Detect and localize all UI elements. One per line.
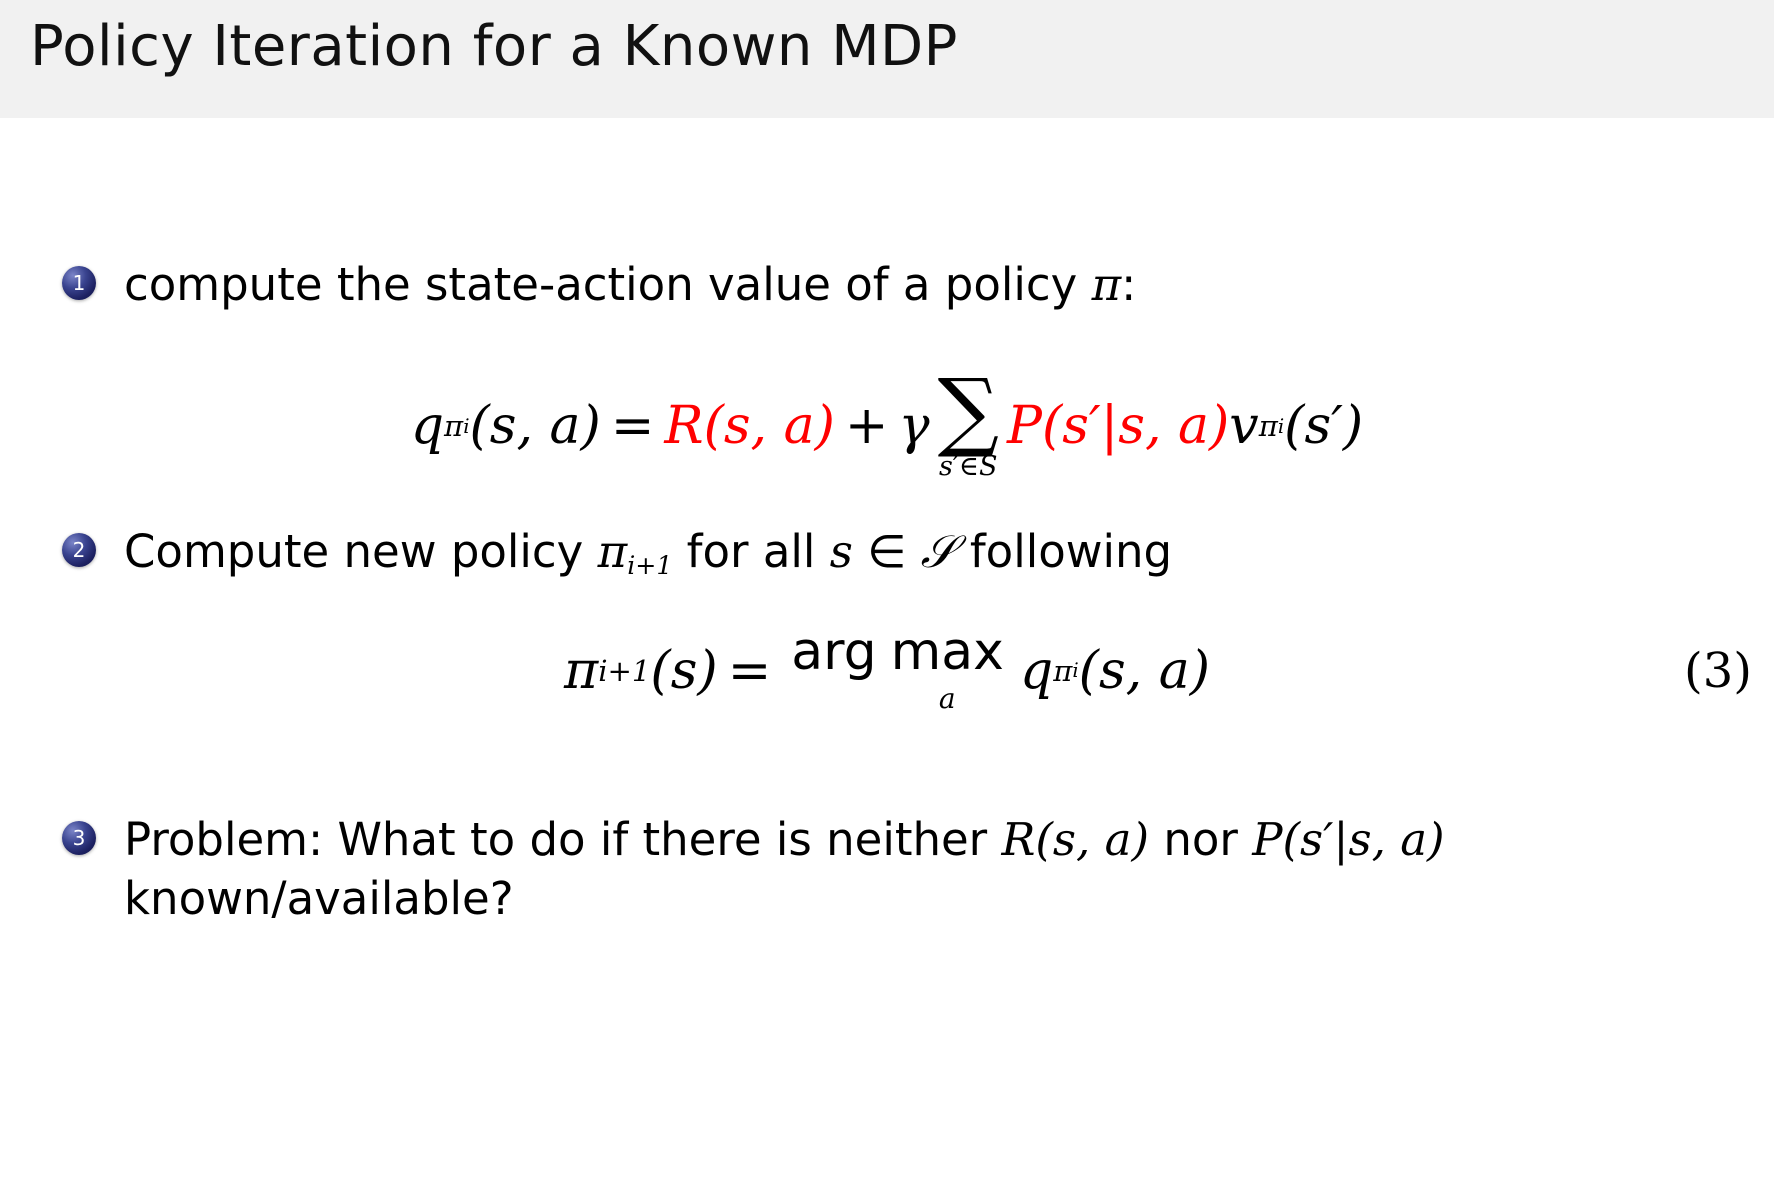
slide-title-bar: Policy Iteration for a Known MDP	[0, 0, 1774, 118]
list-item-2-text: Compute new policy πi+1 for all s ∈ 𝒮 fo…	[124, 523, 1172, 583]
eq2-equals-sign: =	[728, 641, 772, 701]
eq2-max-with-limit: max a	[891, 626, 1004, 715]
item3-line1-a: Problem: What to do if there is neither	[124, 813, 1001, 866]
equation-q-row: qπi(s, a) = R(s, a) + γ ∑ s′∈S P(s′|s, a…	[0, 373, 1774, 480]
bullet-number-icon-1: 1	[62, 266, 96, 300]
eq2-q-subscript-pi: π	[1053, 654, 1072, 688]
eq2-q-arguments: (s, a)	[1079, 641, 1210, 701]
item3-line1-b: nor	[1149, 813, 1252, 866]
eq1-q-arguments: (s, a)	[470, 396, 601, 456]
item2-part3: following	[956, 525, 1173, 578]
eq2-max-variable: a	[939, 682, 956, 715]
item2-part2: for all	[672, 525, 829, 578]
eq2-pi-subscript: i+1	[598, 654, 650, 688]
eq1-gamma: γ	[898, 396, 929, 456]
eq1-reward-term: R(s, a)	[664, 396, 834, 456]
item3-line2: known/available?	[124, 872, 514, 925]
slide-content: 1 compute the state-action value of a po…	[0, 118, 1774, 1186]
item2-pi-subscript: i+1	[627, 551, 672, 580]
list-item-3-text: Problem: What to do if there is neither …	[124, 811, 1445, 928]
item3-reward-symbol: R(s, a)	[1001, 813, 1149, 866]
eq1-transition-term: P(s′|s, a)	[1007, 396, 1229, 456]
eq2-arg-label: arg	[791, 626, 876, 678]
bullet-number-icon-3: 3	[62, 821, 96, 855]
equation-q: qπi(s, a) = R(s, a) + γ ∑ s′∈S P(s′|s, a…	[411, 373, 1363, 480]
bullet-number-icon-2: 2	[62, 533, 96, 567]
equation-policy-row: πi+1(s) = arg max a qπi(s, a) (3)	[0, 626, 1774, 715]
equation-policy-improvement: πi+1(s) = arg max a qπi(s, a)	[564, 626, 1210, 715]
item3-transition-symbol: P(s′|s, a)	[1252, 813, 1444, 866]
eq1-summation: ∑ s′∈S	[938, 375, 999, 482]
eq2-argmax-operator: arg max a	[791, 626, 1004, 715]
item2-element-of-icon: ∈	[867, 525, 906, 578]
sigma-icon: ∑	[938, 375, 999, 449]
item2-part1: Compute new policy	[124, 525, 598, 578]
page-title: Policy Iteration for a Known MDP	[30, 14, 958, 79]
eq1-value-arguments: (s′)	[1284, 396, 1363, 456]
item2-s: s	[830, 525, 853, 578]
eq2-pi: π	[564, 641, 598, 701]
item1-text-before: compute the state-action value of a poli…	[124, 258, 1092, 311]
eq1-q: q	[411, 396, 444, 456]
eq1-plus-sign: +	[845, 396, 889, 456]
list-item-1: 1 compute the state-action value of a po…	[62, 256, 1136, 315]
list-item-1-text: compute the state-action value of a poli…	[124, 256, 1136, 315]
eq2-max-label: max	[891, 626, 1004, 678]
eq1-equals-sign: =	[611, 396, 655, 456]
eq2-arguments: (s)	[650, 641, 717, 701]
equation-number: (3)	[1684, 643, 1752, 699]
eq1-value-subscript-pi: π	[1259, 409, 1278, 443]
list-item-3: 3 Problem: What to do if there is neithe…	[62, 811, 1762, 928]
list-item-2: 2 Compute new policy πi+1 for all s ∈ 𝒮 …	[62, 523, 1172, 583]
eq2-q: q	[1020, 641, 1053, 701]
eq1-value-v: v	[1229, 396, 1258, 456]
item1-text-after: :	[1121, 258, 1136, 311]
eq1-q-subscript-pi: π	[444, 409, 463, 443]
eq1-sum-limit: s′∈S	[939, 451, 997, 482]
item2-pi: π	[598, 525, 628, 578]
item2-state-space-symbol: 𝒮	[921, 525, 956, 578]
item1-pi-symbol: π	[1092, 258, 1122, 311]
